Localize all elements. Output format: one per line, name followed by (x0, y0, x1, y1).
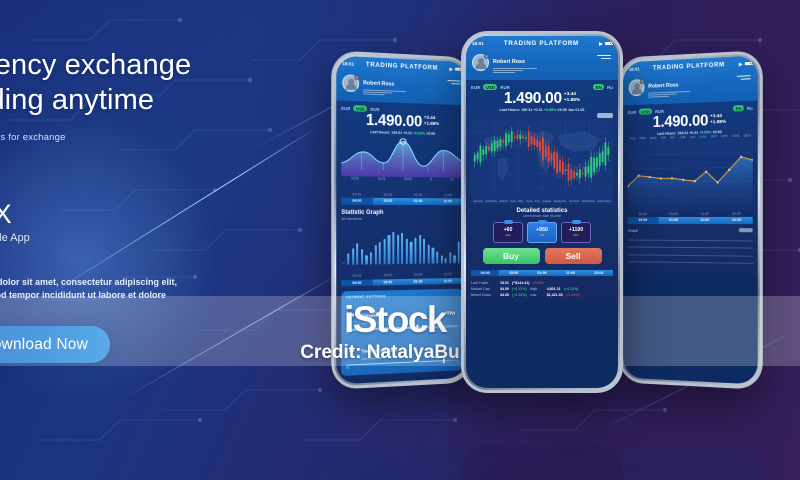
panel-line (628, 261, 753, 263)
r-axis-0: 15:00 (639, 212, 647, 216)
center-header: 18:01 TRADING PLATFORM Robert Ross (466, 36, 618, 80)
center-app-title: TRADING PLATFORM (504, 40, 579, 47)
category-label: MARC (650, 137, 657, 140)
bar (458, 242, 460, 263)
center-body: EUR USD RUR EN Ru 1.490.00 +3.44 +1.88% (466, 80, 618, 302)
left-user-name: Robert Ross (363, 80, 394, 87)
bar (374, 245, 376, 264)
lang-ru-chip[interactable]: Ru (607, 85, 613, 90)
row-value: 34.00 (500, 293, 509, 297)
currency-eur[interactable]: EUR (628, 109, 637, 114)
left-price: 1.490.00 (366, 113, 422, 130)
area-label-2: 18:02 (404, 177, 412, 181)
menu-icon[interactable] (597, 55, 611, 61)
axis2-time-2: 01:00 (414, 273, 423, 277)
row-value: 34.00 (500, 287, 509, 291)
bar (401, 233, 403, 263)
center-lh-extra: Jan 01.06 (568, 108, 585, 112)
row-paren: (+4.12%) (512, 293, 527, 297)
category-label: OCTO (721, 135, 728, 138)
right-profile-bars (648, 91, 690, 98)
bar (445, 259, 447, 263)
r-timebar-0[interactable]: 15:00 (628, 217, 658, 223)
left-app-title: TRADING PLATFORM (366, 61, 438, 72)
c-timebar-3[interactable]: 11:00 (556, 270, 584, 276)
r-timebar-3[interactable]: 22:00 (721, 217, 753, 224)
hero-headline: Currency exchange , trading anytime (0, 48, 268, 119)
right-lh-label: Last Hours: (657, 132, 676, 137)
category-label: NOVE (732, 135, 739, 138)
panel-line (628, 247, 753, 249)
month-label: Septembe (554, 199, 567, 203)
center-delta-abs: +3.44 (564, 92, 576, 97)
month-label: March (500, 199, 508, 203)
stats-table: Last Trade : 19.01 (^$144.41) -0.44% Mar… (471, 280, 613, 298)
bar (441, 256, 443, 263)
signal-icon (739, 62, 743, 66)
row-change2: (-1.41%) (566, 293, 580, 297)
bar (383, 239, 385, 264)
bar (392, 232, 394, 264)
right-header: 18:01 TRADING PLATFORM Robert Ross (623, 55, 758, 105)
center-month-labels: JanuaryFebruaryMarchAprilMayJuneJulyAugu… (471, 199, 613, 203)
bar (423, 239, 425, 263)
center-lh-value: 199.31 (521, 108, 532, 112)
center-lh-pct: +0.85% (544, 108, 557, 112)
bar (379, 242, 381, 264)
area-label-0: 12:02 (351, 176, 359, 180)
bar-axis-label: 50 (342, 262, 344, 264)
trade-buttons[interactable]: Buy Sell (471, 248, 613, 264)
left-profile[interactable]: Robert Ross (342, 70, 461, 99)
toggle-pill-icon[interactable] (739, 228, 753, 232)
c-timebar-4[interactable]: 22:04 (585, 270, 613, 276)
right-user-name: Robert Ross (648, 82, 678, 89)
poster-canvas: Currency exchange , trading anytime Best… (0, 0, 800, 480)
statistic-graph-title: Statistic Graph (341, 209, 462, 215)
center-delta-pct: +1.88% (564, 98, 580, 103)
row-key2: High (530, 287, 544, 291)
month-label: June (526, 199, 532, 203)
right-timebar[interactable]: 15:00 01:00 11:00 22:00 (628, 217, 753, 224)
category-label: JANU (630, 138, 636, 141)
statistic-graph-sub: All mentions (341, 216, 462, 220)
axis2-time-1: 15:00 (384, 273, 393, 277)
bar (419, 235, 421, 264)
left-status-icons (449, 67, 461, 72)
stat-card-pill-icon (572, 220, 581, 224)
month-label: May (518, 199, 523, 203)
bar (436, 252, 438, 263)
right-body: EUR USD RUR EN Ru 1.490.00 +3.44 +1.88% (623, 100, 758, 274)
currency-rur[interactable]: RUR (655, 108, 664, 113)
area-label-4: 14 (450, 178, 453, 182)
left-timebar[interactable]: 04:00 15:00 01:00 11:00 (341, 198, 462, 205)
row-paren: (^$144.41) (512, 281, 529, 285)
menu-icon[interactable] (448, 80, 461, 86)
row-key: Market Cap (471, 287, 497, 291)
right-status-time: 18:01 (629, 66, 640, 71)
currency-eur[interactable]: EUR (471, 85, 480, 90)
right-lang-toggle[interactable]: EN Ru (733, 105, 753, 112)
phone-center[interactable]: 18:01 TRADING PLATFORM Robert Ross (461, 31, 623, 393)
bar (352, 248, 354, 264)
currency-usd[interactable]: USD (639, 108, 652, 115)
row-key2: Low (530, 293, 544, 297)
bar (453, 256, 455, 263)
battery-icon (745, 62, 752, 66)
right-rows-panel: Graph (628, 227, 753, 263)
center-lh-time: 19:55 (557, 108, 566, 112)
stat-card-pill-icon (538, 220, 547, 224)
axis-time-1: 15:00 (384, 193, 393, 197)
month-label: April (510, 199, 516, 203)
left-timebar-2[interactable]: 04:00 15:00 01:00 11:00 (341, 277, 462, 286)
right-profile[interactable]: Robert Ross (629, 70, 752, 99)
row-key: Last Trade : (471, 281, 497, 285)
row-change: -0.44% (532, 281, 543, 285)
right-price-delta: +3.44 +1.88% (710, 113, 726, 127)
timebar-0[interactable]: 04:00 (341, 198, 372, 205)
hero-headline-2: UI/UX (0, 199, 268, 230)
currency-rur[interactable]: RUR (500, 85, 510, 90)
center-price-block: 1.490.00 +3.44 +1.88% (471, 91, 613, 107)
bar (365, 255, 367, 264)
category-label: AUGU (699, 136, 706, 139)
statistic-bar-chart: 50 (341, 223, 462, 272)
left-delta-pct: +1.88% (424, 122, 439, 127)
axis2-time-3: 11:00 (444, 272, 452, 276)
center-price: 1.490.00 (504, 91, 562, 107)
notification-dot-icon (484, 54, 489, 59)
right-price: 1.490.00 (653, 114, 708, 131)
phone-center-screen[interactable]: 18:01 TRADING PLATFORM Robert Ross (466, 36, 618, 388)
center-profile-bars (493, 68, 537, 73)
stat-card-month: Sep (505, 233, 510, 237)
center-user-name: Robert Ross (493, 59, 525, 65)
watermark: iStock™ Credit: NatalyaBurova (0, 296, 800, 366)
stat-card[interactable]: +60 Sep (493, 222, 523, 243)
center-statusbar: 18:01 TRADING PLATFORM (472, 40, 612, 47)
hero-lorem-line1: Lorem ipsum dolor sit amet, consectetur … (0, 276, 268, 290)
r-timebar-2[interactable]: 11:00 (689, 217, 721, 223)
bar (361, 250, 363, 265)
stat-card[interactable]: +950 Oct (527, 222, 557, 243)
currency-eur[interactable]: EUR (341, 105, 350, 110)
left-profile-bars (363, 89, 406, 96)
month-label: November (582, 199, 595, 203)
right-status-icons (739, 61, 752, 66)
avatar (342, 74, 359, 92)
left-area-chart: 12:02 11:11 18:02 0 14 (341, 134, 462, 192)
bar (414, 238, 416, 264)
center-lh-change: +0.31 (533, 108, 542, 112)
right-line-chart (628, 139, 753, 211)
area-label-3: 0 (430, 178, 432, 182)
month-label: October (569, 199, 579, 203)
bar (410, 242, 412, 264)
avatar (472, 54, 489, 71)
bar (406, 239, 408, 263)
avatar (629, 79, 645, 96)
timebar2-0[interactable]: 04:00 (341, 279, 372, 286)
center-price-delta: +3.44 +1.88% (564, 91, 580, 104)
c-timebar-1[interactable]: 15:00 (499, 270, 527, 276)
trademark-icon: ™ (446, 310, 456, 321)
panel-line (628, 239, 753, 240)
center-status-icons (599, 42, 612, 46)
row-value: 19.01 (500, 281, 509, 285)
center-status-time: 18:01 (472, 41, 484, 46)
lang-ru-chip[interactable]: Ru (747, 105, 753, 110)
timebar-3[interactable]: 11:00 (433, 198, 462, 204)
r-axis-2: 11:00 (700, 212, 708, 216)
axis-time-3: 11:00 (444, 193, 452, 197)
left-status-time: 18:01 (342, 61, 354, 67)
right-lh-value: 199.31 (677, 131, 688, 135)
timebar-2[interactable]: 01:00 (403, 198, 433, 205)
category-label: FEBR (640, 137, 646, 140)
hero-headline-line2: , trading anytime (0, 83, 268, 118)
category-label: APRI (661, 137, 667, 140)
menu-icon[interactable] (737, 75, 751, 81)
right-delta-abs: +3.44 (710, 114, 722, 119)
bar (432, 247, 434, 263)
bar (356, 244, 358, 264)
bar (449, 253, 451, 263)
row-key: Mined Coins (471, 293, 497, 297)
timebar2-2[interactable]: 01:00 (403, 278, 433, 285)
stat-card-month: Nov (573, 233, 578, 237)
lang-en-chip[interactable]: EN (733, 105, 744, 112)
right-axis-times: 15:00 01:00 11:00 22:00 (628, 210, 753, 217)
center-last-hours: Last Hours: 199.31 +0.31 +0.85% 19:55 Ja… (471, 108, 613, 112)
stat-card[interactable]: +1100 Nov (561, 222, 591, 243)
month-label: August (542, 199, 551, 203)
right-delta-pct: +1.88% (710, 120, 726, 126)
battery-icon (605, 42, 612, 46)
stat-card-pill-icon (504, 220, 513, 224)
bar (370, 252, 372, 264)
category-label: JUNE (679, 136, 685, 139)
detailed-stat-cards[interactable]: +60 Sep +950 Oct +1100 Nov (471, 222, 613, 243)
right-lh-time: 19:55 (712, 130, 721, 134)
timebar2-1[interactable]: 15:00 (372, 279, 403, 286)
bar (347, 254, 349, 264)
panel-line (628, 254, 753, 256)
axis2-time-0: 04:00 (352, 274, 361, 278)
notification-dot-icon (354, 74, 359, 79)
stat-card-month: Oct (540, 233, 545, 237)
currency-rur[interactable]: RUR (370, 106, 379, 111)
notification-dot-icon (640, 79, 645, 84)
signal-icon (599, 42, 603, 46)
table-row: Mined Coins 34.00 (+4.12%) Low $1,421.33… (471, 292, 613, 298)
hero-copy: Currency exchange , trading anytime Best… (0, 48, 268, 303)
c-timebar-2[interactable]: 01:00 (528, 270, 556, 276)
center-lang-toggle[interactable]: EN Ru (593, 84, 613, 90)
center-timebar[interactable]: 04:00 15:00 01:00 11:00 22:04 (471, 270, 613, 276)
center-profile[interactable]: Robert Ross (472, 50, 612, 74)
right-app-title: TRADING PLATFORM (653, 61, 725, 72)
right-lh-pct: +0.85% (699, 131, 711, 135)
lang-en-chip[interactable]: EN (593, 84, 604, 90)
area-label-1: 11:11 (378, 177, 385, 181)
row-paren: (+4.12%) (512, 287, 527, 291)
r-timebar-1[interactable]: 01:00 (658, 217, 689, 223)
row-value2: $1,421.33 (547, 293, 563, 297)
phones-reflection (0, 386, 800, 480)
istock-logo-text: iStock (344, 299, 446, 340)
category-label: DECE (744, 135, 751, 138)
timebar2-3[interactable]: 11:00 (433, 277, 462, 284)
right-price-block: 1.490.00 +3.44 +1.88% (628, 112, 753, 131)
sell-button[interactable]: Sell (545, 248, 602, 264)
row-value2: 4,801.21 (547, 287, 561, 291)
month-label: July (535, 199, 540, 203)
timebar-1[interactable]: 15:00 (372, 198, 403, 205)
category-label: JULY (690, 136, 696, 139)
left-header: 18:01 TRADING PLATFORM Robert Ross (336, 56, 467, 106)
hero-headline-2-sub: Design Mobile App (0, 232, 268, 244)
left-price-block: 1.490.00 +3.44 +1.88% (341, 112, 462, 131)
bar (388, 235, 390, 264)
r-axis-1: 01:00 (669, 212, 678, 216)
currency-usd[interactable]: USD (483, 84, 497, 90)
axis-time-0: 04:00 (352, 192, 361, 196)
month-label: February (486, 199, 498, 203)
c-timebar-0[interactable]: 04:00 (471, 270, 499, 276)
center-candlestick-chart: JanuaryFebruaryMarchAprilMayJuneJulyAugu… (471, 118, 613, 204)
row-change2: (+4.12%) (564, 287, 579, 291)
hero-headline-line1: Currency exchange (0, 49, 191, 81)
left-price-delta: +3.44 +1.88% (424, 115, 439, 128)
detailed-statistics-sub: Lorem ipsum dolor sit amet (471, 214, 613, 218)
right-panel-label: Graph (628, 227, 638, 232)
right-lh-change: +0.31 (689, 131, 698, 135)
buy-button[interactable]: Buy (483, 248, 540, 264)
left-delta-abs: +3.44 (424, 116, 435, 121)
month-label: December (598, 199, 611, 203)
axis-time-2: 01:00 (414, 193, 423, 197)
hero-subtitle: Best conditions for exchange (0, 132, 268, 143)
category-label: SEPT (711, 135, 717, 138)
month-label: January (473, 199, 483, 203)
istock-logo: iStock™ (344, 299, 456, 341)
bar (428, 245, 430, 264)
category-label: MAY (670, 137, 675, 140)
signal-icon (449, 67, 453, 71)
bar (397, 235, 399, 264)
center-lh-label: Last Hours: (500, 108, 521, 112)
r-axis-3: 22:00 (732, 212, 741, 216)
